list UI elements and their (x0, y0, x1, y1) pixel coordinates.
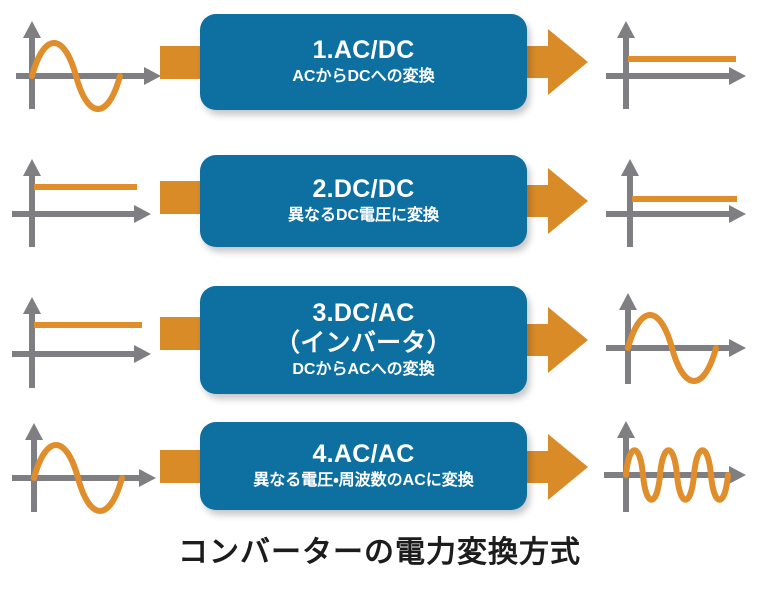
conversion-row-ac-dc: 1.AC/DC ACからDCへの変換 (0, 0, 759, 135)
stage-title-line2: （インバータ） (275, 329, 452, 359)
stage-title: 3.DC/AC (312, 299, 414, 329)
input-waveform-dc-flat-high (6, 288, 166, 398)
stage-box-ac-ac[interactable]: 4.AC/AC 異なる電圧・周波数のACに変換 (200, 422, 527, 510)
stage-title: 1.AC/DC (312, 36, 414, 66)
conversion-row-ac-ac: 4.AC/AC 異なる電圧・周波数のACに変換 (0, 410, 759, 530)
stage-box-dc-dc[interactable]: 2.DC/DC 異なるDC電圧に変換 (200, 155, 527, 247)
diagram-caption: コンバーターの電力変換方式 (0, 527, 759, 571)
conversion-row-dc-dc: 2.DC/DC 異なるDC電圧に変換 (0, 135, 759, 270)
axis-cross-icon (12, 159, 151, 247)
axis-cross-icon (12, 297, 151, 388)
diagram-canvas: 1.AC/DC ACからDCへの変換 (0, 0, 759, 590)
stage-box-dc-ac[interactable]: 3.DC/AC （インバータ） DCからACへの変換 (200, 286, 527, 394)
axis-cross-icon (606, 293, 746, 384)
output-waveform-dc-flat-low (596, 152, 756, 257)
axis-cross-icon (606, 159, 746, 247)
stage-subtitle: 異なるDC電圧に変換 (288, 206, 439, 227)
input-waveform-dc-flat-high (6, 152, 166, 257)
input-waveform-ac-sine (6, 14, 166, 119)
stage-title: 4.AC/AC (312, 440, 414, 470)
axis-cross-icon (606, 21, 746, 109)
stage-title: 2.DC/DC (312, 175, 414, 205)
stage-subtitle: DCからACへの変換 (292, 360, 434, 381)
input-waveform-ac-sine (6, 420, 166, 525)
output-waveform-dc-flat-high (596, 14, 756, 119)
conversion-row-dc-ac: 3.DC/AC （インバータ） DCからACへの変換 (0, 270, 759, 410)
output-waveform-ac-sine (596, 286, 756, 396)
stage-subtitle: 異なる電圧・周波数のACに変換 (253, 471, 474, 492)
stage-subtitle: ACからDCへの変換 (292, 67, 434, 88)
stage-box-ac-dc[interactable]: 1.AC/DC ACからDCへの変換 (200, 14, 527, 110)
output-waveform-ac-sine-highfreq (596, 420, 756, 525)
